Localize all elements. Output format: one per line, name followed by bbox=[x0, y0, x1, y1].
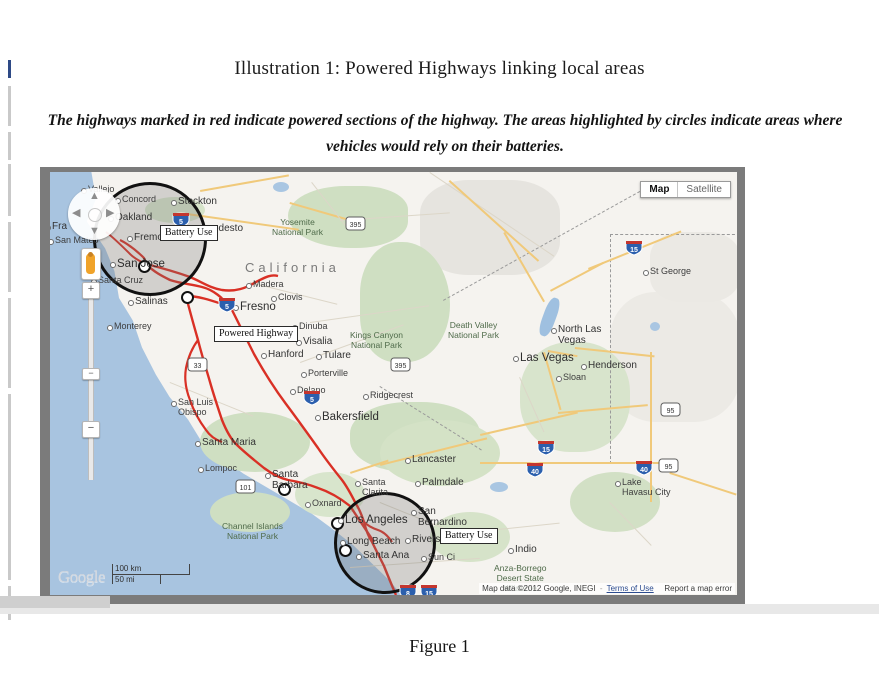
google-logo: Google bbox=[58, 567, 105, 587]
city-marker bbox=[340, 540, 346, 546]
map-label-death-valley: Death ValleyNational Park bbox=[448, 320, 499, 340]
city-marker bbox=[581, 364, 587, 370]
map-label-hanford: Hanford bbox=[268, 349, 304, 360]
map-label-sloan: Sloan bbox=[563, 372, 586, 382]
shield-us101-icon: 101 bbox=[235, 479, 256, 499]
city-marker bbox=[305, 502, 311, 508]
map-label-riverside: Rivers bbox=[412, 534, 440, 545]
city-marker bbox=[110, 262, 116, 268]
map-label-henderson: Henderson bbox=[588, 360, 637, 371]
svg-text:8: 8 bbox=[406, 591, 410, 595]
city-marker bbox=[415, 481, 421, 487]
city-marker bbox=[508, 548, 514, 554]
state-border bbox=[610, 234, 612, 464]
map-label-san-luis-obispo: San LuisObispo bbox=[178, 397, 213, 417]
zoom-slider-track[interactable] bbox=[88, 290, 94, 480]
city-marker bbox=[316, 354, 322, 360]
map-label-santa-maria: Santa Maria bbox=[202, 437, 256, 448]
attribution-separator: - bbox=[600, 584, 603, 593]
map-label-indio: Indio bbox=[515, 544, 537, 555]
map-label-santa-ana: Santa Ana bbox=[363, 550, 409, 561]
map-label-salinas: Salinas bbox=[135, 296, 168, 307]
map-label-monterey: Monterey bbox=[114, 321, 152, 331]
svg-text:15: 15 bbox=[630, 247, 638, 254]
svg-text:95: 95 bbox=[667, 408, 675, 415]
lake bbox=[273, 182, 289, 192]
map-label-las-vegas: Las Vegas bbox=[520, 352, 574, 364]
map-label-st-george: St George bbox=[650, 266, 691, 276]
city-marker bbox=[513, 356, 519, 362]
map-label-palmdale: Palmdale bbox=[422, 477, 464, 488]
lake bbox=[650, 322, 660, 331]
city-marker bbox=[198, 467, 204, 473]
map-label-santa-clarita: SantaClarita bbox=[362, 477, 388, 497]
shield-i40-icon: 40 bbox=[526, 462, 544, 483]
map-label-san-jose: San Jose bbox=[117, 258, 165, 270]
map-label-oxnard: Oxnard bbox=[312, 498, 342, 508]
city-marker bbox=[405, 458, 411, 464]
city-marker bbox=[261, 353, 267, 359]
shield-i15-mojave-icon: 15 bbox=[537, 440, 555, 461]
city-marker bbox=[301, 372, 307, 378]
city-marker bbox=[290, 389, 296, 395]
attribution-separator bbox=[658, 584, 660, 593]
page-title: Illustration 1: Powered Highways linking… bbox=[0, 58, 879, 80]
zoom-slider-handle[interactable]: − bbox=[82, 368, 100, 380]
street-view-pegman-icon[interactable] bbox=[81, 248, 101, 280]
city-marker bbox=[363, 394, 369, 400]
city-marker bbox=[315, 415, 321, 421]
city-marker bbox=[551, 328, 557, 334]
map-viewport[interactable]: VallejoConcordStocktonOaklandFraSan Mate… bbox=[50, 172, 737, 595]
svg-text:395: 395 bbox=[395, 363, 407, 370]
ruler-segment bbox=[8, 86, 11, 126]
map-label-north-las-vegas: North LasVegas bbox=[558, 324, 601, 346]
scale-km-label: 100 km bbox=[115, 564, 141, 573]
map-label-channel-islands: Channel IslandsNational Park bbox=[222, 521, 283, 541]
shield-i8-icon: 8 bbox=[399, 584, 417, 595]
shield-us95-icon: 95 bbox=[658, 458, 679, 478]
city-marker bbox=[246, 283, 252, 289]
pan-up-icon[interactable]: ▲ bbox=[89, 191, 100, 202]
map-attribution: Map data ©2012 Google, INEGI - Terms of … bbox=[479, 583, 735, 594]
scale-mi-label: 50 mi bbox=[115, 575, 135, 584]
attribution-data-text: Map data ©2012 Google, INEGI bbox=[482, 584, 596, 593]
map-label-clovis: Clovis bbox=[278, 292, 303, 302]
map-label-ridgecrest: Ridgecrest bbox=[370, 390, 413, 400]
svg-text:5: 5 bbox=[225, 304, 229, 311]
map-frame: VallejoConcordStocktonOaklandFraSan Mate… bbox=[40, 167, 745, 604]
city-marker bbox=[171, 200, 177, 206]
ruler-segment bbox=[8, 132, 11, 160]
road bbox=[480, 462, 660, 464]
ruler-segment bbox=[8, 164, 11, 216]
map-label-santa-cruz: Santa Cruz bbox=[98, 275, 143, 285]
city-marker bbox=[405, 538, 411, 544]
city-marker bbox=[355, 481, 361, 487]
svg-text:15: 15 bbox=[425, 591, 433, 595]
svg-text:33: 33 bbox=[194, 363, 202, 370]
route-node-salinas bbox=[181, 291, 194, 304]
pan-control[interactable]: ▲ ▼ ◀ ▶ bbox=[68, 188, 120, 240]
callout-battery-use-south: Battery Use bbox=[440, 528, 498, 544]
map-label-kings-canyon: Kings CanyonNational Park bbox=[350, 330, 403, 350]
pan-down-icon[interactable]: ▼ bbox=[89, 226, 100, 237]
ruler-segment bbox=[8, 222, 11, 292]
svg-text:95: 95 bbox=[665, 464, 673, 471]
city-marker bbox=[265, 473, 271, 479]
svg-text:395: 395 bbox=[350, 222, 362, 229]
shield-i5-kern-icon: 5 bbox=[303, 390, 321, 411]
city-marker bbox=[356, 554, 362, 560]
map-label-fremont: Fremo bbox=[134, 232, 163, 243]
map-label-fresno: Fresno bbox=[240, 301, 276, 313]
map-type-control[interactable]: Map Satellite bbox=[640, 181, 731, 198]
zoom-out-button[interactable]: − bbox=[82, 421, 100, 438]
shield-us395-icon: 395 bbox=[345, 216, 366, 236]
left-ruler-artifact bbox=[8, 60, 11, 620]
pan-right-icon[interactable]: ▶ bbox=[106, 208, 114, 219]
shield-ca33-icon: 33 bbox=[187, 357, 208, 377]
shield-us395-south-icon: 395 bbox=[390, 357, 411, 377]
map-label-yosemite: YosemiteNational Park bbox=[272, 217, 323, 237]
report-map-error-link[interactable]: Report a map error bbox=[664, 584, 732, 593]
map-label-dinuba: Dinuba bbox=[299, 321, 328, 331]
pan-left-icon[interactable]: ◀ bbox=[72, 208, 80, 219]
terms-of-use-link[interactable]: Terms of Use bbox=[607, 584, 654, 593]
callout-battery-use-north: Battery Use bbox=[160, 225, 218, 241]
figure-caption: Figure 1 bbox=[0, 636, 879, 657]
city-marker bbox=[411, 510, 417, 516]
svg-text:101: 101 bbox=[240, 485, 252, 492]
city-marker bbox=[127, 236, 133, 242]
map-label-santa-barbara: SantaBarbara bbox=[272, 469, 308, 491]
map-label-tulare: Tulare bbox=[323, 350, 351, 361]
map-label-visalia: Visalia bbox=[303, 336, 332, 347]
city-marker bbox=[556, 376, 562, 382]
city-marker bbox=[128, 300, 134, 306]
shield-i15-sd-icon: 15 bbox=[420, 584, 438, 595]
map-label-long-beach: Long Beach bbox=[347, 536, 400, 547]
page-subtitle: The highways marked in red indicate powe… bbox=[45, 108, 845, 160]
map-type-map-button[interactable]: Map bbox=[641, 182, 678, 197]
svg-text:15: 15 bbox=[542, 447, 550, 454]
map-type-satellite-button[interactable]: Satellite bbox=[678, 182, 730, 197]
lake bbox=[490, 482, 508, 492]
city-marker bbox=[643, 270, 649, 276]
map-label-porterville: Porterville bbox=[308, 368, 348, 378]
page-bottom-band-left bbox=[0, 596, 110, 608]
map-label-sun-city: Sun Ci bbox=[428, 552, 455, 562]
map-label-california: California bbox=[245, 260, 340, 275]
pan-center[interactable] bbox=[88, 208, 102, 222]
map-label-bakersfield: Bakersfield bbox=[322, 411, 379, 423]
city-marker bbox=[421, 556, 427, 562]
shield-i5-fresno-icon: 5 bbox=[218, 297, 236, 318]
scale-tick bbox=[189, 564, 190, 574]
city-marker bbox=[195, 441, 201, 447]
zoom-in-button[interactable]: + bbox=[82, 282, 100, 299]
city-marker bbox=[171, 401, 177, 407]
shield-us95-az-icon: 95 bbox=[660, 402, 681, 422]
terrain-region bbox=[420, 180, 560, 275]
map-label-san-bernardino: SanBernardino bbox=[418, 506, 467, 528]
map-label-lompoc: Lompoc bbox=[205, 463, 237, 473]
map-label-oakland: Oakland bbox=[115, 212, 152, 223]
ruler-segment bbox=[8, 394, 11, 580]
city-marker bbox=[107, 325, 113, 331]
map-label-stockton: Stockton bbox=[178, 196, 217, 207]
callout-powered-highway: Powered Highway bbox=[214, 326, 298, 342]
page-bottom-band bbox=[0, 604, 879, 614]
svg-text:40: 40 bbox=[531, 469, 539, 476]
shield-i40-east-icon: 40 bbox=[635, 460, 653, 481]
svg-text:40: 40 bbox=[640, 467, 648, 474]
svg-text:5: 5 bbox=[310, 397, 314, 404]
map-label-los-angeles: Los Angeles bbox=[345, 514, 408, 526]
map-label-francisco: Fra bbox=[52, 221, 67, 232]
map-scale-bar: 100 km 50 mi bbox=[112, 563, 190, 585]
map-label-modesto: odesto bbox=[213, 223, 243, 234]
city-marker bbox=[615, 481, 621, 487]
map-label-lancaster: Lancaster bbox=[412, 454, 456, 465]
shield-i15-north-icon: 15 bbox=[625, 240, 643, 261]
map-label-madera: Madera bbox=[253, 279, 284, 289]
ruler-segment bbox=[8, 298, 11, 388]
scale-tick bbox=[112, 564, 113, 584]
pegman-head bbox=[88, 252, 93, 257]
city-marker bbox=[338, 518, 344, 524]
map-label-concord: Concord bbox=[122, 194, 156, 204]
scale-tick bbox=[160, 574, 161, 584]
